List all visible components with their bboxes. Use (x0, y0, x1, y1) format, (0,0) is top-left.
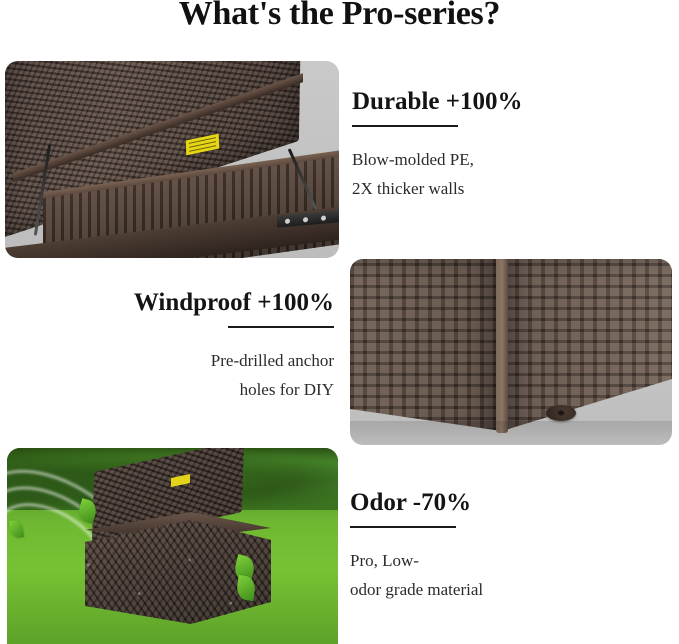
feature-body-windproof: Pre-drilled anchor holes for DIY (92, 346, 334, 406)
feature-heading-durable: Durable +100% (352, 88, 523, 116)
page-title: What's the Pro-series? (0, 0, 679, 33)
feature-body-odor: Pro, Low- odor grade material (350, 546, 483, 606)
heading-divider-windproof (228, 326, 334, 328)
open-deck-box-photo (5, 61, 339, 258)
feature-body-durable: Blow-molded PE, 2X thicker walls (352, 145, 523, 205)
heading-divider-durable (352, 125, 458, 127)
feature-block-odor: Odor -70% Pro, Low- odor grade material (350, 489, 483, 605)
box-corner-edge (496, 259, 508, 433)
feature-block-windproof: Windproof +100% Pre-drilled anchor holes… (92, 289, 334, 405)
anchor-hole-icon (546, 405, 576, 421)
heading-divider-odor (350, 526, 456, 528)
box-side-panel-left (350, 259, 502, 431)
ground-shadow (350, 421, 672, 445)
lawn-airflow-photo (7, 448, 338, 644)
feature-heading-odor: Odor -70% (350, 489, 483, 517)
feature-heading-windproof: Windproof +100% (92, 289, 334, 317)
feature-block-durable: Durable +100% Blow-molded PE, 2X thicker… (352, 88, 523, 204)
corner-anchor-hole-photo (350, 259, 672, 445)
box-side-panel-right (502, 259, 672, 431)
